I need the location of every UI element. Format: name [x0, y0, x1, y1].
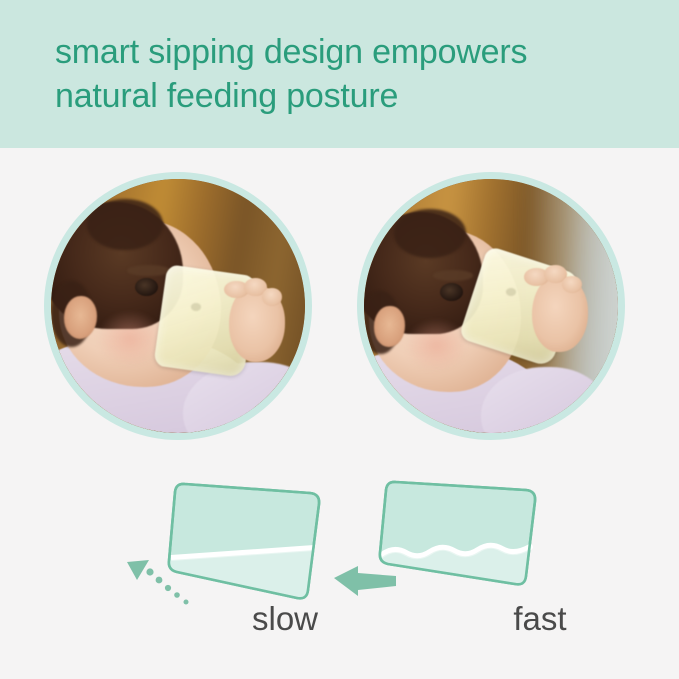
baby-cheek [97, 311, 163, 367]
sippy-cup-speckle [191, 303, 201, 311]
photo-circle-slow [44, 172, 312, 440]
baby-eyebrow [433, 270, 474, 280]
diagram-item-fast: fast [330, 460, 630, 679]
baby-cheek [405, 319, 469, 372]
photo-circle-fast [357, 172, 625, 440]
flow-label-fast: fast [390, 600, 679, 638]
baby-ear [374, 306, 404, 347]
header-band: smart sipping design empowers natural fe… [0, 0, 679, 148]
baby-eye [135, 278, 158, 296]
cup-diagram-fast-icon [330, 460, 630, 610]
photo-inner-fast [364, 179, 618, 433]
fast-flow-arrow-icon [334, 566, 396, 596]
baby-eyebrow [127, 265, 170, 275]
baby-hair-wisp [87, 199, 163, 250]
baby-figure-slow [51, 179, 305, 433]
page-title: smart sipping design empowers natural fe… [55, 30, 655, 118]
flow-diagram: slow fast [0, 460, 679, 679]
baby-hair-wisp [394, 209, 465, 257]
baby-eye [440, 283, 463, 301]
baby-figure-fast [364, 179, 618, 433]
photo-inner-slow [51, 179, 305, 433]
baby-ear [64, 296, 97, 339]
photo-row [0, 168, 679, 448]
infographic-page: smart sipping design empowers natural fe… [0, 0, 679, 679]
baby-finger [262, 288, 282, 306]
